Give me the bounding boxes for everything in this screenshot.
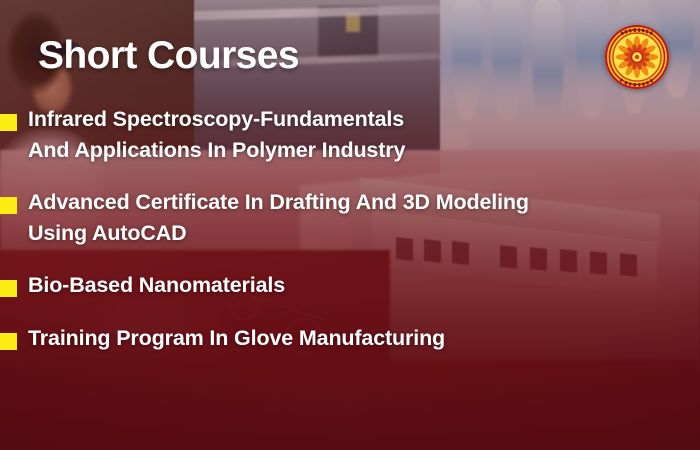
short-courses-banner: Short Courses Infrared Spectroscopy-Fund…: [0, 0, 700, 450]
course-title-line: Bio-Based Nanomaterials: [28, 270, 285, 301]
emblem-icon: [605, 25, 669, 89]
list-item[interactable]: Training Program In Glove Manufacturing: [0, 323, 700, 354]
course-title: Training Program In Glove Manufacturing: [28, 323, 445, 354]
institute-emblem-logo[interactable]: [605, 25, 669, 89]
bullet-square-icon: [0, 333, 17, 350]
course-title-line: Using AutoCAD: [28, 218, 529, 249]
bullet-square-icon: [0, 197, 17, 214]
course-list: Infrared Spectroscopy-Fundamentals And A…: [0, 104, 700, 353]
bullet-square-icon: [0, 280, 17, 297]
course-title: Advanced Certificate In Drafting And 3D …: [28, 187, 529, 248]
course-title-line: And Applications In Polymer Industry: [28, 135, 405, 166]
course-title: Infrared Spectroscopy-Fundamentals And A…: [28, 104, 405, 165]
course-title-line: Advanced Certificate In Drafting And 3D …: [28, 187, 529, 218]
bullet-square-icon: [0, 114, 17, 131]
list-item[interactable]: Infrared Spectroscopy-Fundamentals And A…: [0, 104, 700, 165]
course-title: Bio-Based Nanomaterials: [28, 270, 285, 301]
page-title: Short Courses: [38, 34, 299, 78]
list-item[interactable]: Bio-Based Nanomaterials: [0, 270, 700, 301]
course-title-line: Training Program In Glove Manufacturing: [28, 323, 445, 354]
list-item[interactable]: Advanced Certificate In Drafting And 3D …: [0, 187, 700, 248]
course-title-line: Infrared Spectroscopy-Fundamentals: [28, 104, 405, 135]
banner-content: Short Courses Infrared Spectroscopy-Fund…: [0, 0, 700, 450]
